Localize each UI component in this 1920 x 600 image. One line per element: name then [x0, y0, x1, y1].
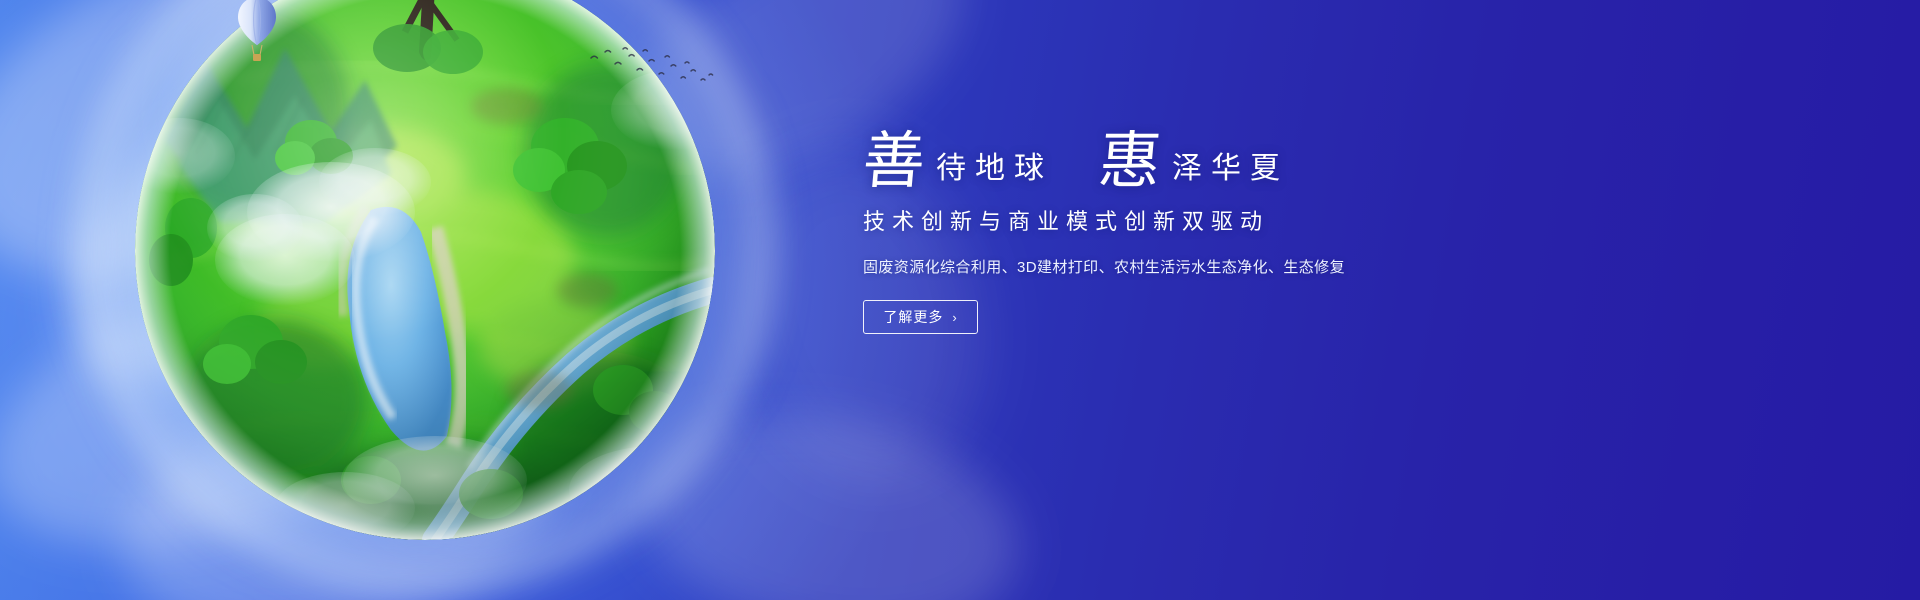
hero-copy-block: 善 待地球 惠 泽华夏 技术创新与商业模式创新双驱动 固废资源化综合利用、3D建…	[863, 130, 1623, 334]
learn-more-label: 了解更多	[883, 307, 943, 327]
hero-description: 固废资源化综合利用、3D建材打印、农村生活污水生态净化、生态修复	[863, 256, 1623, 277]
headline-char-1: 善	[860, 130, 928, 192]
headline-rest-2: 泽华夏	[1172, 154, 1289, 184]
birds-flock-icon	[585, 45, 720, 87]
hero-subtitle: 技术创新与商业模式创新双驱动	[863, 204, 1623, 236]
chevron-right-icon: ›	[952, 311, 957, 324]
hero-headline: 善 待地球 惠 泽华夏	[863, 130, 1623, 192]
headline-char-2: 惠	[1096, 130, 1164, 192]
hero-banner: 善 待地球 惠 泽华夏 技术创新与商业模式创新双驱动 固废资源化综合利用、3D建…	[0, 0, 1920, 600]
learn-more-button[interactable]: 了解更多 ›	[863, 300, 978, 334]
headline-rest-1: 待地球	[936, 154, 1053, 184]
hot-air-balloon-icon	[235, 0, 279, 67]
